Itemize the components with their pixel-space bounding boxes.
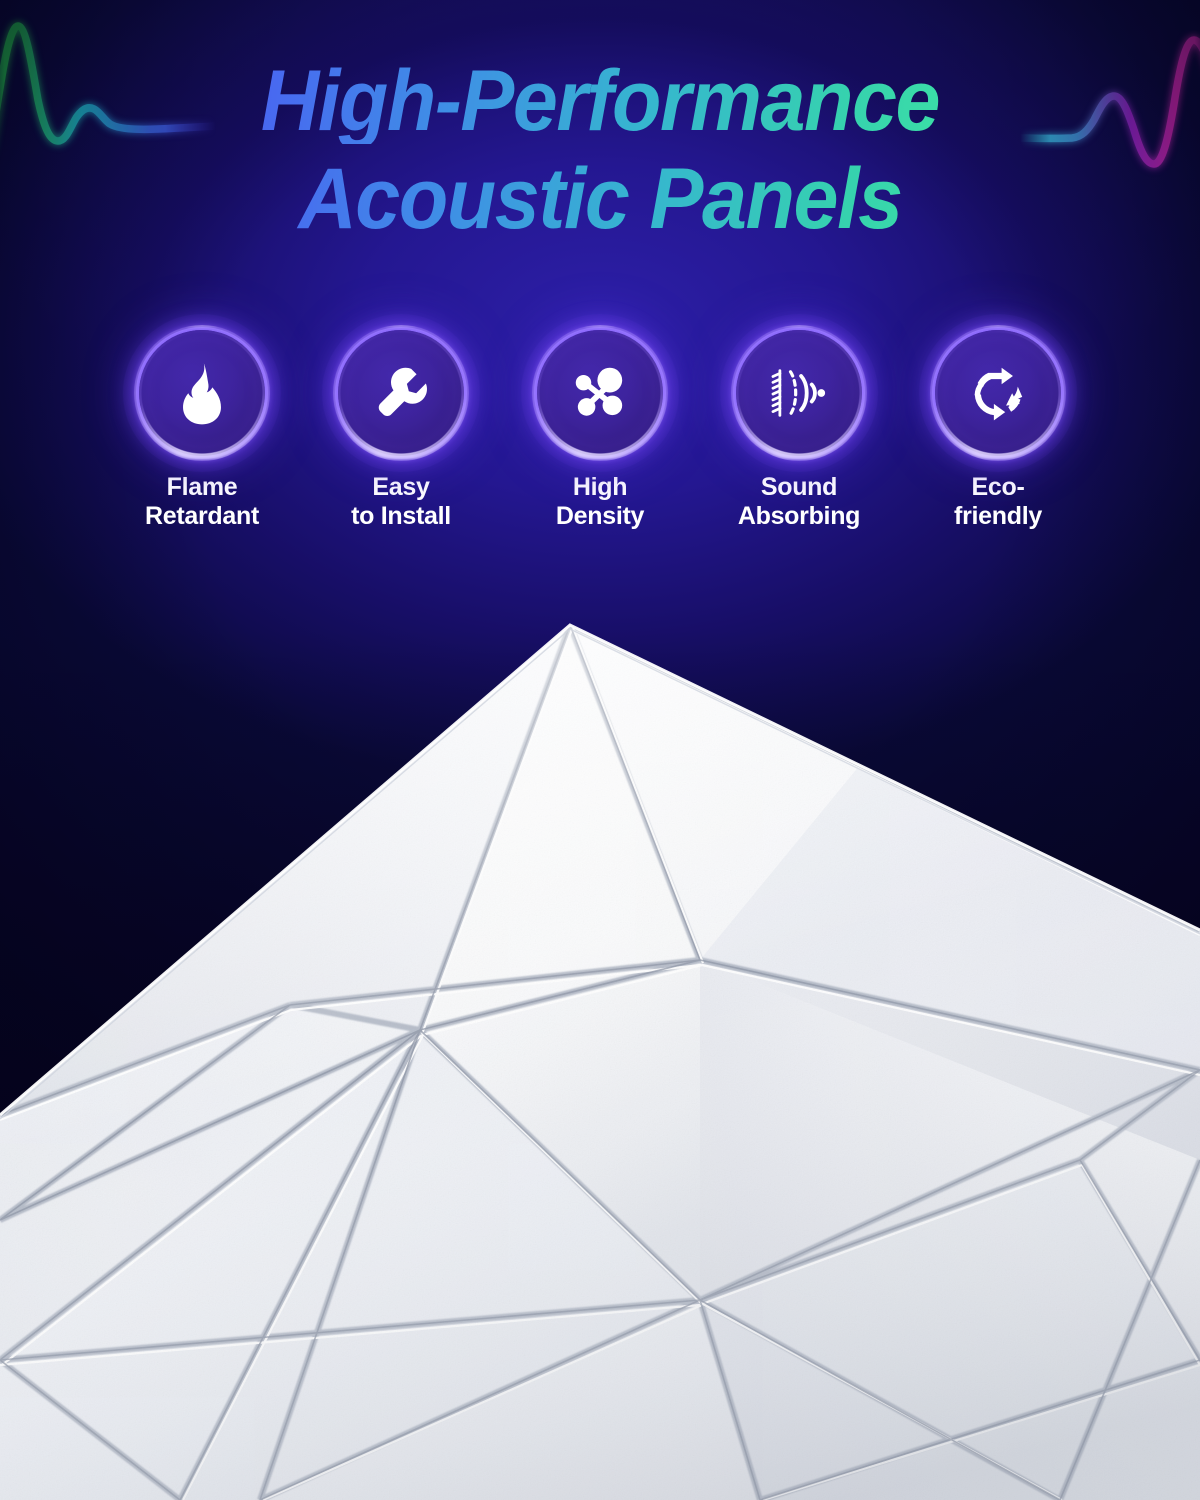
feature-item-sound-absorbing[interactable]: Sound Absorbing	[736, 330, 862, 530]
molecule-density-icon	[567, 360, 633, 426]
poster-stage: High-Performance Acoustic Panels Flame R…	[0, 0, 1200, 1500]
feature-item-high-density[interactable]: High Density	[537, 330, 663, 530]
feature-item-flame-retardant[interactable]: Flame Retardant	[139, 330, 265, 530]
page-title: High-Performance Acoustic Panels	[0, 58, 1200, 242]
badge-density[interactable]	[537, 330, 663, 456]
feature-label-high-density: High Density	[556, 473, 644, 530]
feature-label-sound-absorbing: Sound Absorbing	[738, 473, 860, 530]
feature-item-eco-friendly[interactable]: Eco- friendly	[935, 330, 1061, 530]
acoustic-panel-photo	[0, 600, 1200, 1500]
sound-wave-icon	[765, 359, 833, 427]
recycle-icon	[965, 360, 1031, 426]
badge-wrench[interactable]	[338, 330, 464, 456]
feature-list: Flame Retardant Easy to Install	[0, 330, 1200, 530]
headline-line-2: Acoustic Panels	[36, 156, 1164, 242]
badge-recycle[interactable]	[935, 330, 1061, 456]
feature-item-easy-to-install[interactable]: Easy to Install	[338, 330, 464, 530]
feature-label-easy-to-install: Easy to Install	[351, 473, 451, 530]
feature-label-flame-retardant: Flame Retardant	[145, 473, 259, 530]
flame-icon	[169, 360, 235, 426]
headline-line-1: High-Performance	[36, 58, 1164, 144]
badge-flame[interactable]	[139, 330, 265, 456]
badge-sound[interactable]	[736, 330, 862, 456]
feature-label-eco-friendly: Eco- friendly	[954, 473, 1042, 530]
wrench-icon	[368, 360, 434, 426]
